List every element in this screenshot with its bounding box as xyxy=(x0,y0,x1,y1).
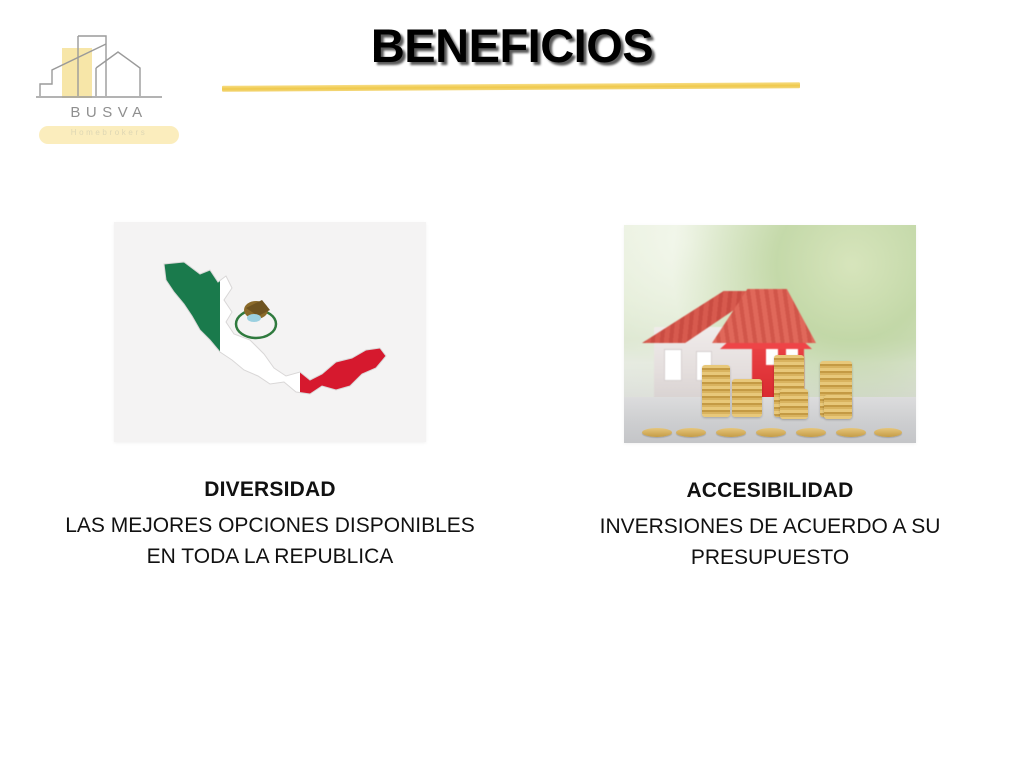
house-with-coins-image xyxy=(624,225,916,443)
slide-canvas: BUSVA Homebrokers BENEFICIOS xyxy=(0,0,1024,768)
benefit-heading: ACCESIBILIDAD xyxy=(540,479,1000,503)
benefit-card-accesibilidad: ACCESIBILIDAD INVERSIONES DE ACUERDO A S… xyxy=(540,222,1000,573)
benefit-body: LAS MEJORES OPCIONES DISPONIBLES EN TODA… xyxy=(20,510,520,572)
loose-coin xyxy=(756,428,786,437)
page-title: BENEFICIOS xyxy=(0,18,1024,73)
loose-coin xyxy=(642,428,672,437)
loose-coin xyxy=(716,428,746,437)
logo-tagline: Homebrokers xyxy=(39,128,179,137)
coin-stack xyxy=(732,379,762,417)
loose-coin xyxy=(874,428,902,437)
benefit-card-diversidad: DIVERSIDAD LAS MEJORES OPCIONES DISPONIB… xyxy=(20,222,520,572)
coin-stack xyxy=(702,365,730,417)
loose-coin xyxy=(836,428,866,437)
benefit-heading: DIVERSIDAD xyxy=(20,478,520,502)
coin-stack xyxy=(780,389,808,419)
loose-coin xyxy=(676,428,706,437)
coin-stack xyxy=(824,395,852,419)
loose-coin xyxy=(796,428,826,437)
title-underline-rule xyxy=(222,82,800,92)
benefit-body: INVERSIONES DE ACUERDO A SU PRESUPUESTO xyxy=(540,511,1000,573)
mexico-map-flag-image xyxy=(114,222,426,442)
logo-wordmark: BUSVA xyxy=(34,104,184,121)
